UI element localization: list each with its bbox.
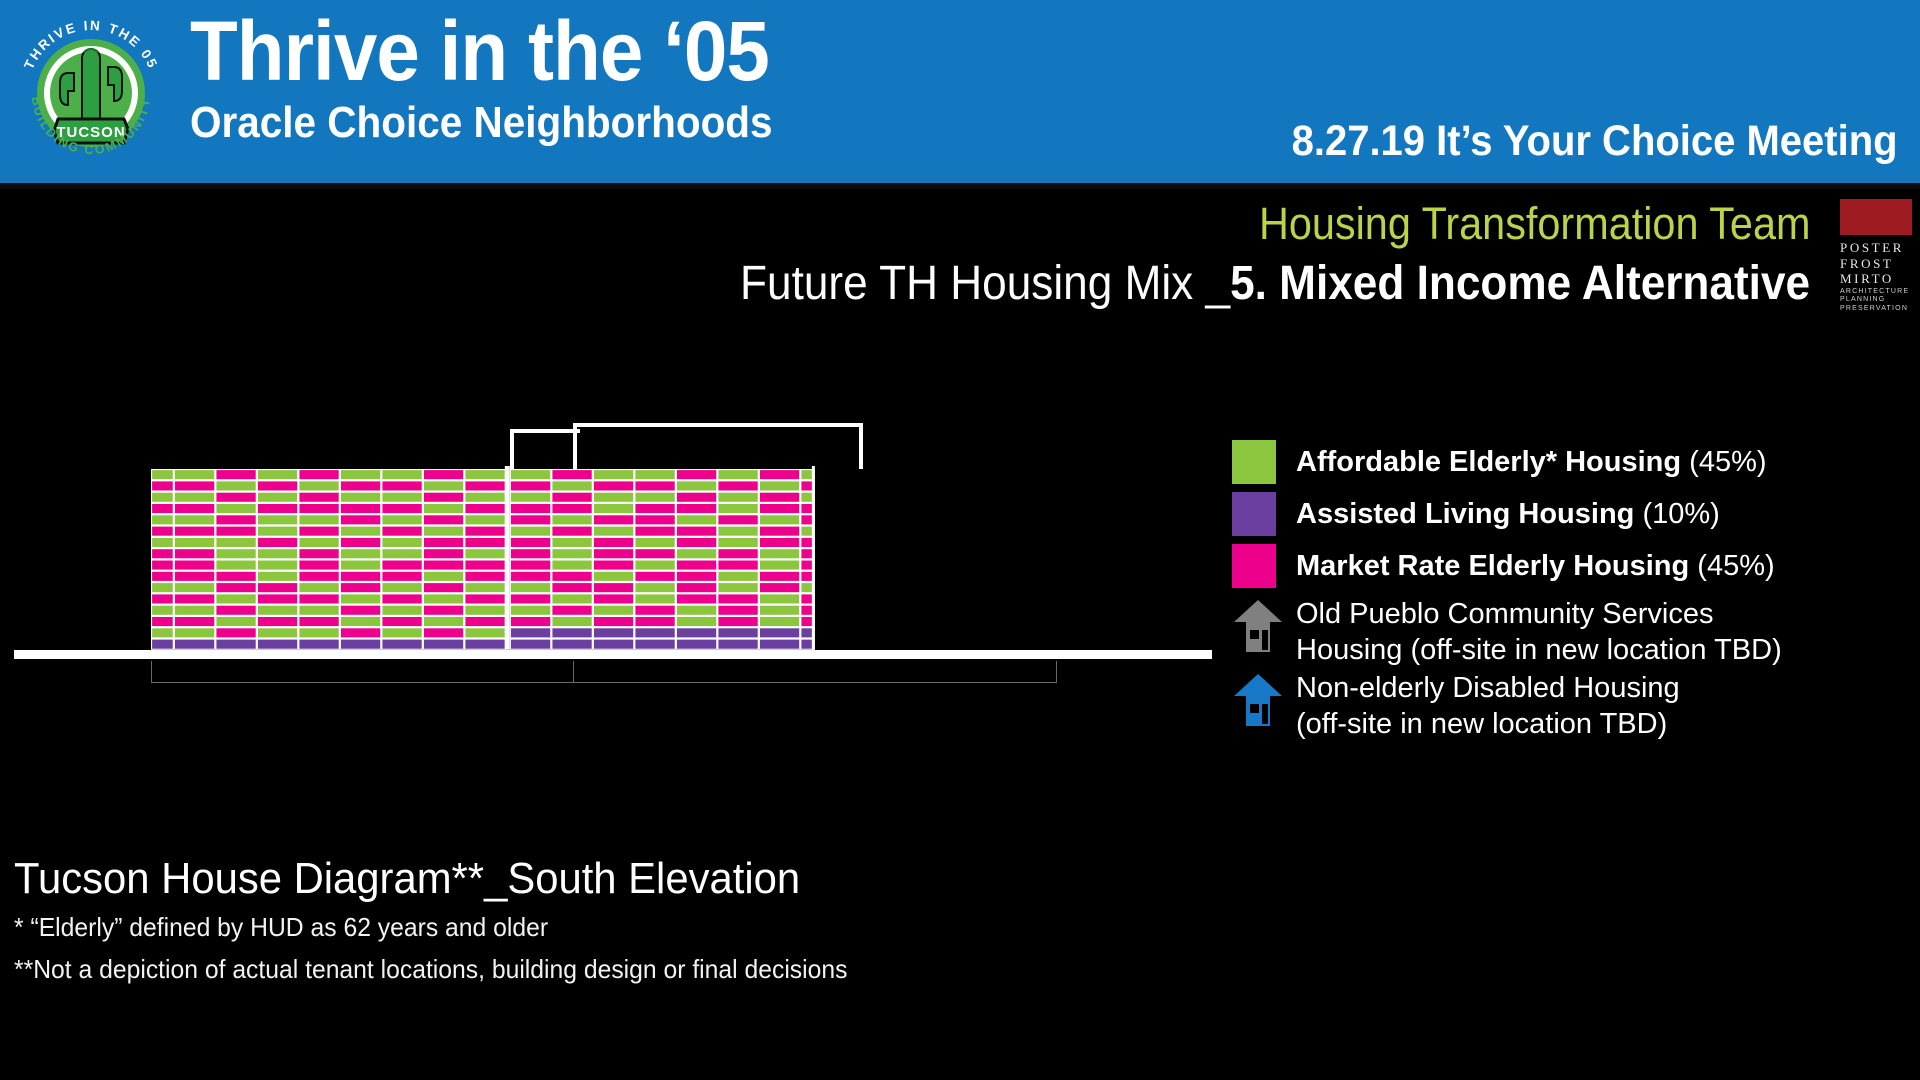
meeting-label: 8.27.19 It’s Your Choice Meeting	[1292, 118, 1898, 165]
unit-cell	[341, 515, 380, 524]
unit-cell	[299, 527, 338, 536]
legend-label-affordable-elderly: Affordable Elderly* Housing (45%)	[1296, 440, 1767, 484]
unit-cell	[152, 549, 173, 558]
unit-cell	[718, 538, 757, 547]
unit-cell	[718, 561, 757, 570]
legend-label-non-elderly-disabled: Non-elderly Disabled Housing (off-site i…	[1296, 670, 1680, 742]
unit-cell	[677, 583, 716, 592]
unit-cell	[382, 549, 421, 558]
unit-cell	[382, 572, 421, 581]
legend-label-note: (45%)	[1689, 446, 1766, 478]
unit-cell	[635, 572, 674, 581]
unit-cell	[258, 493, 297, 502]
unit-cell	[216, 493, 255, 502]
unit-cell	[216, 527, 255, 536]
unit-mix-grid-svg	[0, 330, 1060, 670]
unit-cell	[175, 549, 214, 558]
unit-cell	[511, 538, 550, 547]
unit-cell	[718, 583, 757, 592]
unit-cell	[635, 594, 674, 603]
unit-cell	[594, 504, 633, 513]
unit-cell	[152, 504, 173, 513]
unit-cell	[552, 594, 591, 603]
page-title: Thrive in the ‘05	[190, 4, 779, 98]
unit-cell	[424, 617, 463, 626]
unit-cell	[175, 628, 214, 637]
pfm-red-square	[1840, 199, 1912, 235]
unit-cell	[718, 481, 757, 490]
unit-mix-grid	[0, 330, 1060, 670]
unit-cell	[258, 470, 297, 479]
unit-cell	[760, 538, 799, 547]
unit-cell	[341, 527, 380, 536]
unit-cell	[175, 515, 214, 524]
unit-cell	[718, 515, 757, 524]
unit-cell	[424, 640, 463, 649]
unit-cell	[258, 628, 297, 637]
unit-cell	[299, 515, 338, 524]
unit-cell	[465, 538, 504, 547]
footnote-elderly: * “Elderly” defined by HUD as 62 years a…	[14, 906, 847, 948]
unit-cell	[760, 481, 799, 490]
unit-cell	[382, 617, 421, 626]
unit-cell	[594, 538, 633, 547]
unit-cell	[594, 549, 633, 558]
unit-cell	[216, 572, 255, 581]
legend-item-affordable-elderly: Affordable Elderly* Housing (45%)	[1232, 440, 1912, 484]
unit-cell	[341, 549, 380, 558]
unit-cell	[382, 561, 421, 570]
slide-title: Future TH Housing Mix _5. Mixed Income A…	[740, 256, 1810, 312]
unit-cell	[635, 640, 674, 649]
unit-cell	[594, 606, 633, 615]
unit-cell	[258, 561, 297, 570]
unit-cell	[552, 640, 591, 649]
legend-label-text: Market Rate Elderly Housing	[1296, 550, 1689, 582]
unit-cell	[760, 628, 799, 637]
unit-cell	[175, 493, 214, 502]
unit-cell	[175, 617, 214, 626]
unit-cell	[635, 504, 674, 513]
unit-cell	[382, 628, 421, 637]
unit-cell	[635, 549, 674, 558]
unit-cell	[299, 493, 338, 502]
unit-cell	[341, 481, 380, 490]
unit-cell	[341, 628, 380, 637]
unit-cell	[216, 549, 255, 558]
unit-cell	[635, 538, 674, 547]
pfm-name-line-2: FROST	[1840, 256, 1914, 272]
slide-root: TUCSON THRIVE IN THE 05 BUILDING COMMUNI…	[0, 0, 1920, 1080]
unit-cell	[718, 572, 757, 581]
unit-cell	[216, 481, 255, 490]
building-elevation-diagram	[0, 330, 1050, 830]
unit-cell	[382, 538, 421, 547]
unit-cell	[258, 527, 297, 536]
unit-cell	[760, 493, 799, 502]
unit-cell	[299, 561, 338, 570]
legend-old-pueblo-line-1: Old Pueblo Community Services	[1296, 596, 1782, 632]
unit-cell	[677, 549, 716, 558]
legend-label-note: (45%)	[1697, 550, 1774, 582]
unit-cell	[760, 470, 799, 479]
unit-cell	[511, 493, 550, 502]
unit-cell	[258, 606, 297, 615]
unit-cell	[635, 470, 674, 479]
unit-cell	[341, 538, 380, 547]
unit-cell	[677, 515, 716, 524]
legend-non-elderly-note: (off-site in new location TBD)	[1296, 708, 1667, 740]
unit-cell	[152, 527, 173, 536]
unit-cell	[175, 572, 214, 581]
pfm-sub-line-1: ARCHITECTURE	[1840, 288, 1916, 296]
unit-cell	[552, 583, 591, 592]
unit-cell	[552, 561, 591, 570]
unit-cell	[152, 572, 173, 581]
unit-cell	[382, 481, 421, 490]
wing-separator	[505, 466, 510, 650]
unit-cell	[760, 594, 799, 603]
header-divider	[0, 183, 1920, 189]
unit-cell	[760, 572, 799, 581]
unit-cell	[152, 493, 173, 502]
unit-cell	[382, 470, 421, 479]
unit-cell	[465, 493, 504, 502]
unit-cell	[677, 594, 716, 603]
unit-cell	[718, 606, 757, 615]
unit-cell	[258, 594, 297, 603]
unit-cell	[152, 617, 173, 626]
unit-cell	[258, 481, 297, 490]
unit-cell	[635, 583, 674, 592]
unit-cell	[511, 640, 550, 649]
unit-cell	[465, 583, 504, 592]
unit-cell	[718, 493, 757, 502]
unit-cell	[677, 617, 716, 626]
unit-cell	[341, 617, 380, 626]
unit-cell	[216, 561, 255, 570]
legend-item-non-elderly-disabled: Non-elderly Disabled Housing (off-site i…	[1232, 670, 1912, 742]
unit-cell	[635, 481, 674, 490]
unit-cell	[152, 606, 173, 615]
unit-cell	[341, 594, 380, 603]
pfm-disciplines: ARCHITECTURE PLANNING PRESERVATION	[1840, 288, 1916, 313]
dimension-bracket-left	[151, 661, 574, 683]
legend-old-pueblo-bold-1: Old Pueblo Community Services	[1296, 598, 1713, 630]
unit-cell	[718, 640, 757, 649]
unit-cell	[216, 470, 255, 479]
unit-cell	[465, 594, 504, 603]
unit-cell	[511, 470, 550, 479]
unit-cell	[677, 572, 716, 581]
legend-swatch-affordable-elderly	[1232, 440, 1276, 484]
unit-cell	[216, 617, 255, 626]
unit-cell	[424, 504, 463, 513]
unit-cell	[424, 470, 463, 479]
unit-cell	[552, 628, 591, 637]
unit-cell	[152, 561, 173, 570]
legend-non-elderly-bold: Non-elderly Disabled Housing	[1296, 672, 1680, 704]
unit-cell	[465, 617, 504, 626]
unit-cell	[152, 628, 173, 637]
unit-cell	[594, 493, 633, 502]
unit-cell	[424, 549, 463, 558]
poster-frost-mirto-logo: POSTER FROST MIRTO ARCHITECTURE PLANNING…	[1836, 196, 1918, 306]
unit-cell	[152, 481, 173, 490]
team-label: Housing Transformation Team	[1258, 198, 1810, 250]
unit-cell	[299, 481, 338, 490]
unit-cell	[258, 583, 297, 592]
unit-cell	[594, 572, 633, 581]
unit-cell	[635, 527, 674, 536]
unit-cell	[152, 515, 173, 524]
footnote-disclaimer: **Not a depiction of actual tenant locat…	[14, 948, 847, 990]
unit-cell	[299, 628, 338, 637]
unit-cell	[175, 561, 214, 570]
unit-cell	[424, 527, 463, 536]
unit-cell	[258, 538, 297, 547]
legend-label-market-rate-elderly: Market Rate Elderly Housing (45%)	[1296, 544, 1775, 588]
unit-cell	[677, 470, 716, 479]
unit-cell	[552, 470, 591, 479]
unit-cell	[216, 515, 255, 524]
legend-old-pueblo-bold-2: Housing	[1296, 634, 1402, 666]
unit-cell	[552, 504, 591, 513]
unit-cell	[299, 538, 338, 547]
unit-cell	[594, 561, 633, 570]
unit-cell	[760, 515, 799, 524]
unit-cell	[677, 504, 716, 513]
unit-cell	[511, 527, 550, 536]
unit-cell	[424, 606, 463, 615]
unit-cell	[511, 606, 550, 615]
footer: Tucson House Diagram**_South Elevation *…	[14, 852, 891, 990]
unit-cell	[299, 572, 338, 581]
pfm-name-line-1: POSTER	[1840, 240, 1914, 256]
unit-cell	[175, 640, 214, 649]
unit-cell	[341, 572, 380, 581]
unit-cell	[635, 515, 674, 524]
unit-cell	[216, 583, 255, 592]
unit-cell	[382, 640, 421, 649]
unit-cell	[677, 481, 716, 490]
pfm-sub-line-3: PRESERVATION	[1840, 305, 1916, 313]
unit-cell	[258, 572, 297, 581]
unit-cell	[677, 561, 716, 570]
house-icon	[1232, 598, 1284, 658]
unit-cell	[552, 515, 591, 524]
unit-cell	[216, 504, 255, 513]
legend-non-elderly-line-1: Non-elderly Disabled Housing	[1296, 670, 1680, 706]
legend-label-old-pueblo: Old Pueblo Community Services Housing (o…	[1296, 596, 1782, 668]
unit-cell	[258, 504, 297, 513]
unit-cell	[299, 640, 338, 649]
legend-old-pueblo-note: (off-site in new location TBD)	[1410, 634, 1781, 666]
unit-cell	[511, 617, 550, 626]
unit-cell	[382, 606, 421, 615]
unit-cell	[552, 572, 591, 581]
unit-cell	[552, 617, 591, 626]
legend-swatch-market-rate-elderly	[1232, 544, 1276, 588]
unit-cell	[677, 493, 716, 502]
unit-cell	[382, 504, 421, 513]
unit-cell	[594, 640, 633, 649]
unit-cell	[465, 561, 504, 570]
legend-label-text: Affordable Elderly* Housing	[1296, 446, 1681, 478]
unit-cell	[511, 481, 550, 490]
unit-cell	[594, 617, 633, 626]
unit-cell	[465, 572, 504, 581]
thrive-logo: TUCSON THRIVE IN THE 05 BUILDING COMMUNI…	[6, 1, 176, 179]
unit-cell	[299, 617, 338, 626]
unit-cell	[465, 549, 504, 558]
legend-non-elderly-line-2: (off-site in new location TBD)	[1296, 706, 1680, 742]
unit-cell	[635, 561, 674, 570]
unit-cell	[718, 594, 757, 603]
unit-cell	[594, 515, 633, 524]
pfm-name-line-3: MIRTO	[1840, 271, 1914, 287]
unit-cell	[594, 470, 633, 479]
unit-cell	[594, 594, 633, 603]
unit-cell	[594, 628, 633, 637]
unit-cell	[465, 606, 504, 615]
unit-cell	[424, 628, 463, 637]
unit-cell	[382, 527, 421, 536]
unit-cell	[552, 538, 591, 547]
unit-cell	[635, 493, 674, 502]
ground-line	[14, 650, 1212, 659]
unit-cell	[424, 583, 463, 592]
unit-cell	[299, 470, 338, 479]
unit-cell	[382, 493, 421, 502]
unit-cell	[175, 583, 214, 592]
unit-cell	[175, 504, 214, 513]
unit-cell	[152, 470, 173, 479]
unit-cell	[760, 617, 799, 626]
legend-label-note: (10%)	[1642, 498, 1719, 530]
header-title-block: Thrive in the ‘05 Oracle Choice Neighbor…	[190, 4, 823, 148]
unit-cell	[152, 640, 173, 649]
unit-cell	[677, 640, 716, 649]
unit-cell	[594, 583, 633, 592]
legend-item-old-pueblo: Old Pueblo Community Services Housing (o…	[1232, 596, 1912, 668]
unit-cell	[424, 572, 463, 581]
unit-cell	[424, 481, 463, 490]
unit-cell	[258, 549, 297, 558]
unit-cell	[382, 594, 421, 603]
unit-cell	[760, 561, 799, 570]
legend-old-pueblo-line-2: Housing (off-site in new location TBD)	[1296, 632, 1782, 668]
unit-cell	[718, 527, 757, 536]
unit-cell	[341, 504, 380, 513]
unit-cell	[216, 594, 255, 603]
unit-cell	[175, 606, 214, 615]
pfm-sub-line-2: PLANNING	[1840, 296, 1916, 304]
unit-cell	[341, 606, 380, 615]
unit-cell	[341, 470, 380, 479]
unit-cell	[299, 594, 338, 603]
legend-swatch-assisted-living	[1232, 492, 1276, 536]
unit-cell	[175, 538, 214, 547]
unit-cell	[718, 549, 757, 558]
unit-cell	[718, 628, 757, 637]
unit-cell	[216, 628, 255, 637]
unit-cell	[677, 606, 716, 615]
unit-cell	[677, 527, 716, 536]
unit-cell	[341, 493, 380, 502]
unit-cell	[382, 583, 421, 592]
unit-cell	[718, 617, 757, 626]
unit-cell	[465, 515, 504, 524]
unit-cell	[635, 617, 674, 626]
header-banner: TUCSON THRIVE IN THE 05 BUILDING COMMUNI…	[0, 0, 1920, 183]
grid-right-edge	[812, 466, 815, 650]
unit-cell	[552, 606, 591, 615]
unit-cell	[511, 515, 550, 524]
unit-cell	[341, 561, 380, 570]
unit-cell	[341, 583, 380, 592]
house-icon	[1232, 672, 1284, 732]
unit-cell	[760, 640, 799, 649]
unit-cell	[258, 515, 297, 524]
thrive-logo-graphic: TUCSON THRIVE IN THE 05 BUILDING COMMUNI…	[6, 1, 176, 179]
unit-cell	[635, 628, 674, 637]
page-subtitle: Oracle Choice Neighborhoods	[190, 98, 773, 148]
unit-cell	[760, 504, 799, 513]
unit-cell	[511, 504, 550, 513]
unit-cell	[552, 549, 591, 558]
unit-cell	[341, 640, 380, 649]
legend: Affordable Elderly* Housing (45%) Assist…	[1232, 440, 1912, 744]
unit-cell	[635, 606, 674, 615]
unit-cell	[718, 504, 757, 513]
unit-cell	[677, 628, 716, 637]
unit-cell	[465, 628, 504, 637]
diagram-caption: Tucson House Diagram**_South Elevation	[14, 852, 847, 906]
unit-cell	[511, 561, 550, 570]
unit-cell	[152, 594, 173, 603]
legend-item-assisted-living: Assisted Living Housing (10%)	[1232, 492, 1912, 536]
unit-cell	[299, 549, 338, 558]
unit-cell	[258, 617, 297, 626]
unit-cell	[465, 481, 504, 490]
unit-cell	[299, 583, 338, 592]
unit-cell	[511, 594, 550, 603]
unit-cell	[718, 470, 757, 479]
unit-cell	[465, 527, 504, 536]
slide-title-light: Future TH Housing Mix _	[740, 257, 1230, 310]
unit-cell	[511, 549, 550, 558]
unit-cell	[175, 527, 214, 536]
unit-cell	[511, 583, 550, 592]
unit-cell	[175, 594, 214, 603]
unit-cell	[511, 572, 550, 581]
unit-cell	[465, 470, 504, 479]
unit-cell	[424, 594, 463, 603]
unit-cell	[552, 493, 591, 502]
legend-item-market-rate-elderly: Market Rate Elderly Housing (45%)	[1232, 544, 1912, 588]
unit-cell	[424, 538, 463, 547]
unit-cell	[382, 515, 421, 524]
unit-cell	[760, 583, 799, 592]
unit-cell	[216, 606, 255, 615]
unit-cell	[594, 527, 633, 536]
unit-cell	[216, 640, 255, 649]
unit-cell	[760, 549, 799, 558]
pfm-name: POSTER FROST MIRTO	[1840, 240, 1914, 287]
unit-cell	[552, 481, 591, 490]
unit-cell	[216, 538, 255, 547]
